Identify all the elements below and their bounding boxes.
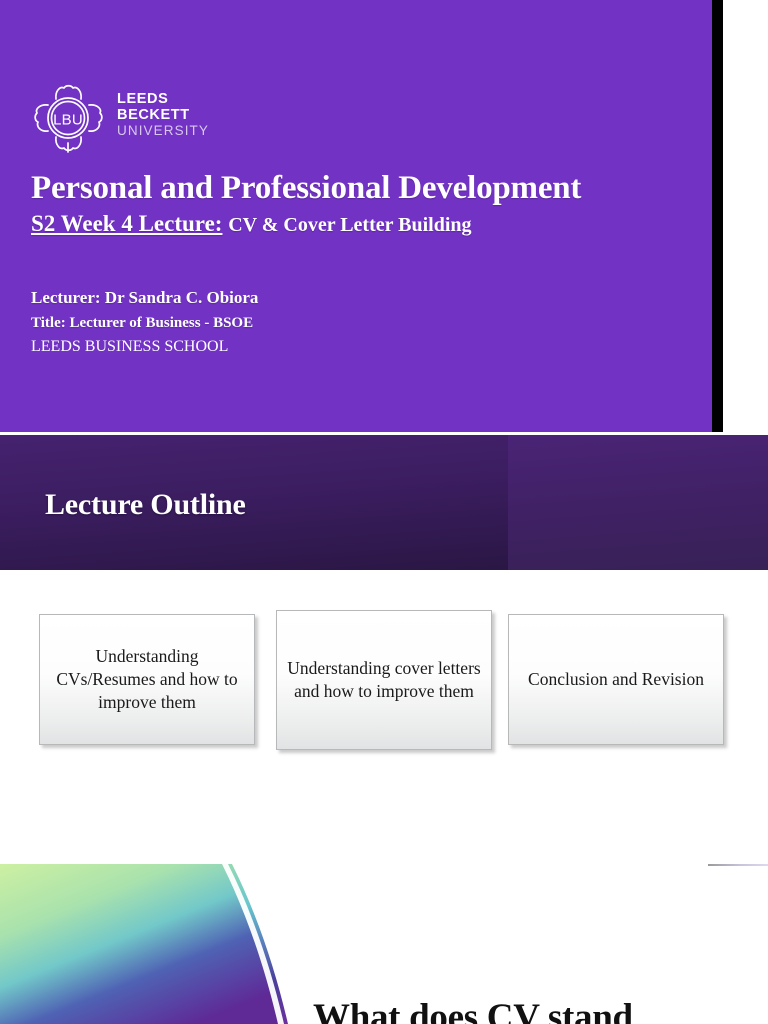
slide-lecture-outline: Lecture Outline Understanding CVs/Resume… xyxy=(0,432,768,864)
logo-line-beckett: BECKETT xyxy=(117,108,227,124)
svg-text:LBU: LBU xyxy=(53,112,83,129)
page-subtitle: S2 Week 4 Lecture: CV & Cover Letter Bui… xyxy=(31,211,472,237)
page-title: Personal and Professional Development xyxy=(31,170,581,207)
university-logo: LBU LEEDS BECKETT UNIVERSITY xyxy=(31,83,211,155)
outline-heading: Lecture Outline xyxy=(45,488,246,522)
logo-line-leeds: LEEDS xyxy=(117,92,227,108)
logo-wordmark: LEEDS BECKETT UNIVERSITY xyxy=(117,92,227,139)
lecturer-name: Lecturer: Dr Sandra C. Obiora xyxy=(31,288,258,308)
document-page: LBU LEEDS BECKETT UNIVERSITY Personal an… xyxy=(0,0,768,1024)
outline-box-conclusion[interactable]: Conclusion and Revision xyxy=(508,614,724,745)
outline-box-cvs[interactable]: Understanding CVs/Resumes and how to imp… xyxy=(39,614,255,745)
lecturer-school: LEEDS BUSINESS SCHOOL xyxy=(31,338,228,356)
gradient-wedge-shape xyxy=(0,864,290,1024)
outline-header-band: Lecture Outline xyxy=(0,435,768,570)
logo-line-university: UNIVERSITY xyxy=(117,123,227,139)
outline-box-group: Understanding CVs/Resumes and how to imp… xyxy=(0,614,768,759)
slide-right-edge-bar xyxy=(712,0,723,432)
lecturer-job-title: Title: Lecturer of Business - BSOE xyxy=(31,315,253,332)
slide-title-page: LBU LEEDS BECKETT UNIVERSITY Personal an… xyxy=(0,0,712,432)
outline-box-cover-letters[interactable]: Understanding cover letters and how to i… xyxy=(276,610,492,750)
outline-band-right-panel xyxy=(508,435,768,570)
subtitle-lecture-label: S2 Week 4 Lecture: xyxy=(31,211,222,236)
yorkshire-rose-icon: LBU xyxy=(31,83,105,154)
next-slide-heading: What does CV stand xyxy=(313,996,633,1024)
header-rule-divider xyxy=(708,864,768,866)
subtitle-lecture-topic: CV & Cover Letter Building xyxy=(228,214,471,236)
